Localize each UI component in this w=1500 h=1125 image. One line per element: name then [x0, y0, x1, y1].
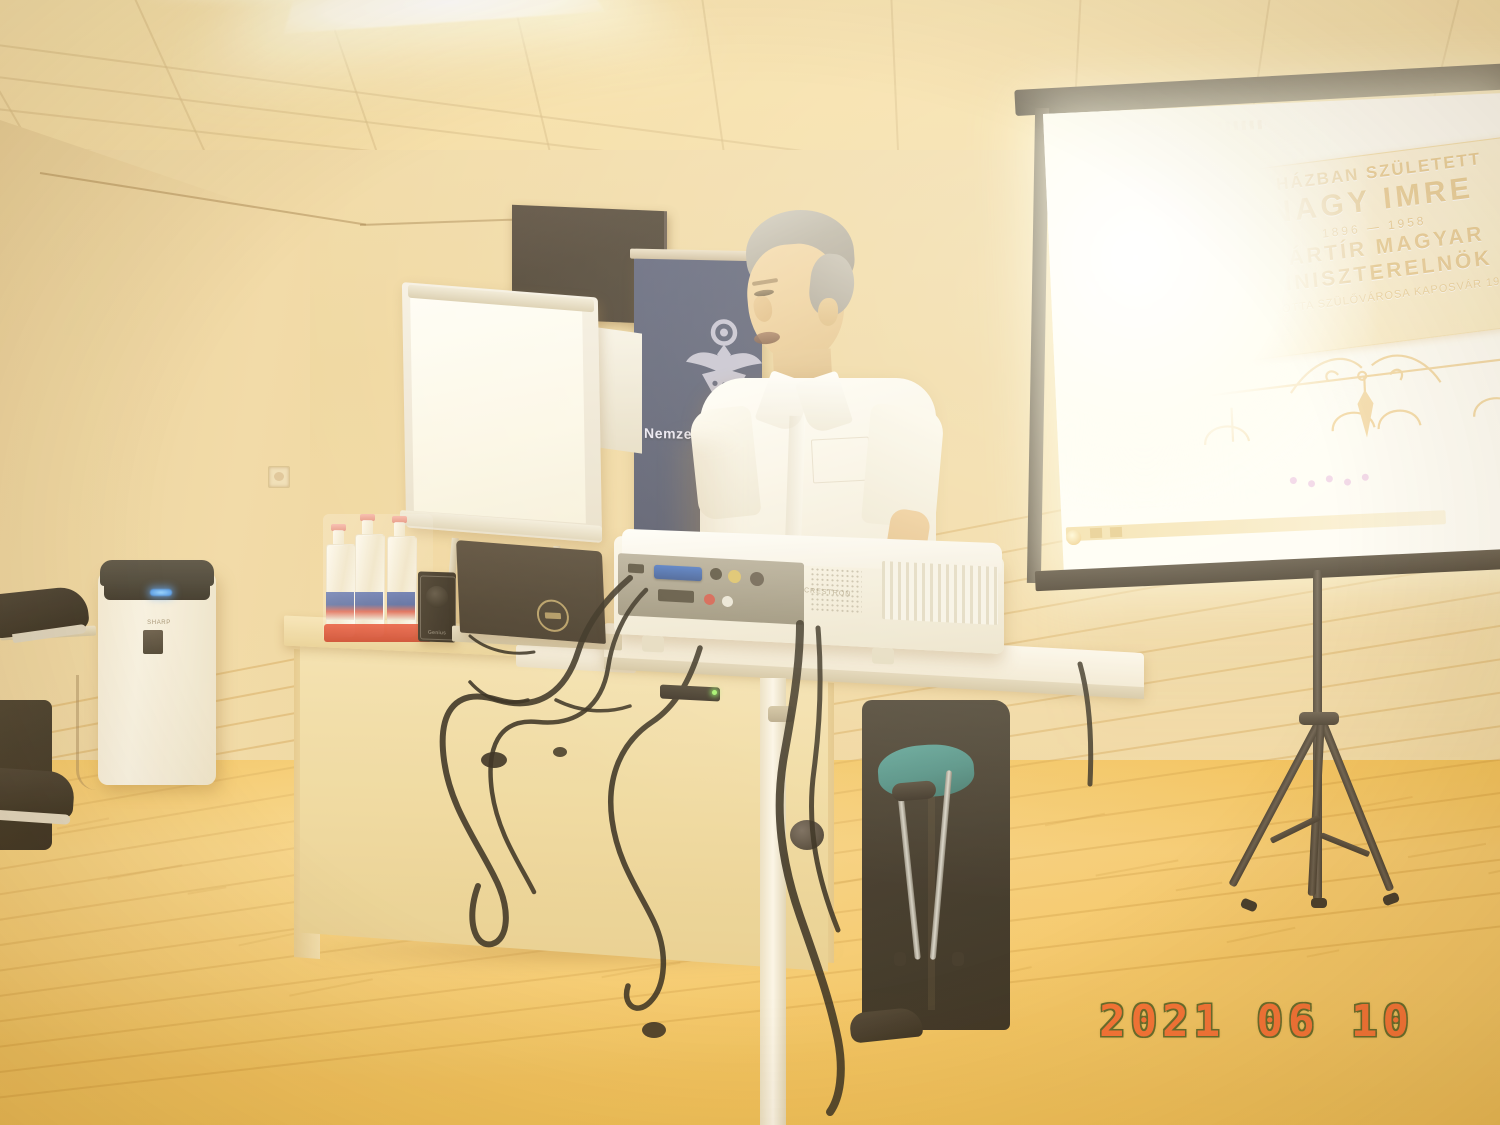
presenter-shirt-pocket — [811, 437, 871, 484]
tripod-leg-right — [1317, 717, 1394, 892]
flipchart-paper — [410, 296, 586, 524]
av-cart-height-clamp[interactable] — [768, 706, 794, 722]
slide-start-orb — [1066, 530, 1082, 546]
screen-tripod-stand — [1225, 570, 1445, 915]
projector-rca-video-port — [728, 570, 741, 584]
walking-cane-tip-a — [952, 952, 964, 966]
dell-logo-icon — [536, 599, 570, 633]
projector-rca-audio-red — [704, 594, 715, 606]
projection-screen-assembly: E HÁZBAN SZÜLETETT NAGY IMRE 1896 — 1958… — [1005, 90, 1500, 570]
video-projector: CRESTRON — [604, 528, 1024, 668]
bottle-pack-base-band — [324, 624, 432, 642]
tripod-foot-center — [1311, 898, 1327, 908]
slide-taskbar — [1066, 510, 1446, 541]
slide-taskbar-button-2 — [1110, 527, 1122, 538]
slide-taskbar-button-1 — [1090, 528, 1102, 539]
wall-power-socket — [268, 466, 290, 488]
projector-rca-audio-white — [722, 596, 733, 608]
tripod-foot-left — [1240, 897, 1259, 912]
projector-svideo-port — [710, 568, 722, 581]
air-purifier[interactable]: SHARP — [98, 570, 216, 785]
projector-serial-port — [658, 589, 694, 603]
projector-foot-left — [642, 635, 664, 652]
purifier-status-led — [150, 589, 172, 596]
tripod-brace-right — [1320, 832, 1370, 857]
projector-vent-slots — [882, 561, 998, 625]
projector-usb-port — [628, 564, 644, 574]
purifier-top-cover — [100, 560, 214, 586]
speaker-driver-cone — [426, 586, 448, 609]
camera-date-stamp: 2021 06 10 — [1099, 996, 1414, 1047]
desk-modesty-panel — [300, 633, 828, 972]
projector-connector-panel — [618, 553, 804, 625]
tripod-foot-right — [1382, 892, 1400, 907]
purifier-logo-badge — [143, 630, 163, 654]
screen-light-glare — [1043, 93, 1381, 516]
projector-din-port — [750, 572, 764, 587]
desktop-speaker: Genius — [418, 571, 456, 642]
left-person-shoe-upper — [0, 585, 90, 639]
water-bottle-pack — [326, 500, 430, 642]
laptop-lid[interactable] — [456, 540, 606, 644]
photograph-scene: E HÁZBAN SZÜLETETT NAGY IMRE 1896 — 1958… — [0, 0, 1500, 1125]
projection-screen-surface: E HÁZBAN SZÜLETETT NAGY IMRE 1896 — 1958… — [1043, 93, 1500, 576]
presenter-ear — [818, 298, 838, 326]
power-brick-led — [712, 690, 717, 695]
purifier-power-cord — [76, 675, 105, 790]
projector-vga-connector — [654, 565, 702, 582]
walking-cane-tip-b — [894, 952, 906, 966]
tripod-hub — [1299, 712, 1339, 725]
purifier-brand-text: SHARP — [134, 620, 184, 626]
projector-foot-right — [872, 647, 894, 664]
flipchart-easel — [404, 290, 618, 560]
av-cart-adjust-knob[interactable] — [790, 820, 824, 850]
speaker-brand-text: Genius — [423, 630, 451, 637]
av-cart-post — [760, 678, 786, 1125]
bottle-shrink-wrap — [323, 514, 433, 642]
